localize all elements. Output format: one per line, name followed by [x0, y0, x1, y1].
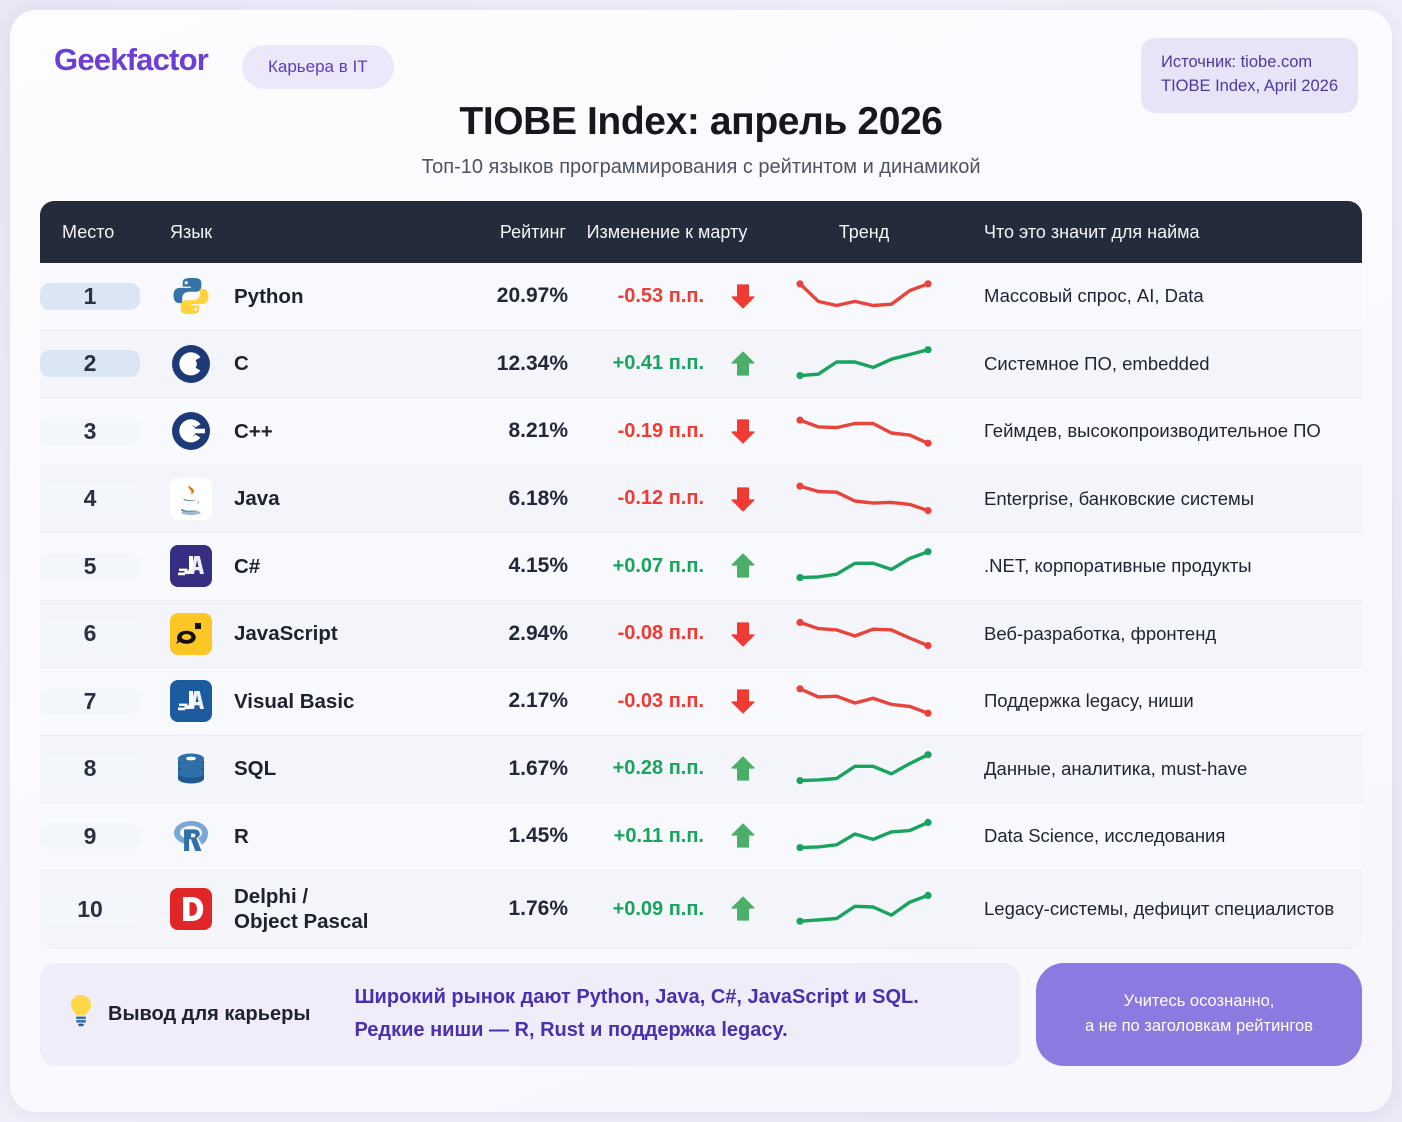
language-cell: C	[143, 343, 443, 385]
arrow-down-icon	[726, 282, 760, 310]
language-name: C#	[234, 554, 260, 579]
note-text: Enterprise, банковские системы	[984, 488, 1254, 509]
note-cell: Веб-разработка, фронтенд	[962, 623, 1362, 645]
language-name: C++	[234, 419, 273, 444]
trend-cell	[766, 540, 962, 592]
arrow-up-icon	[726, 552, 760, 580]
language-name: C	[234, 351, 249, 376]
career-badge: Карьера в IT	[242, 45, 394, 89]
rating-cell: 2.94%	[443, 622, 568, 646]
note-text: Веб-разработка, фронтенд	[984, 623, 1216, 644]
language-name: SQL	[234, 756, 276, 781]
rank-cell: 1	[40, 283, 143, 310]
rating-cell: 8.21%	[443, 419, 568, 443]
rating-value: 1.76%	[508, 897, 568, 920]
career-conclusion-panel: Вывод для карьеры Широкий рынок дают Pyt…	[40, 963, 1020, 1066]
cta-line-2: а не по заголовкам рейтингов	[1085, 1014, 1313, 1040]
rank-value: 9	[40, 823, 140, 850]
language-name: Delphi /Object Pascal	[234, 884, 368, 934]
language-cell: R	[143, 815, 443, 857]
change-value: +0.09 п.п.	[613, 898, 704, 921]
table-row: 4 Java 6.18% -0.12 п.п. Enterprise, банк…	[40, 466, 1362, 534]
note-text: Массовый спрос, AI, Data	[984, 285, 1204, 306]
language-cell: C#	[143, 545, 443, 587]
trend-cell	[766, 338, 962, 390]
language-name: Visual Basic	[234, 689, 354, 714]
note-cell: Данные, аналитика, must-have	[962, 758, 1362, 780]
rank-cell: 9	[40, 823, 143, 850]
rank-cell: 4	[40, 485, 143, 512]
source-box: Источник: tiobe.com TIOBE Index, April 2…	[1141, 38, 1358, 113]
rank-cell: 7	[40, 688, 143, 715]
trend-sparkline	[791, 473, 937, 525]
note-cell: Enterprise, банковские системы	[962, 488, 1362, 510]
rating-value: 1.45%	[508, 824, 568, 847]
brand-logo: Geekfactor	[54, 42, 208, 78]
rank-value: 3	[40, 418, 140, 445]
note-text: Данные, аналитика, must-have	[984, 758, 1247, 779]
change-value: +0.28 п.п.	[613, 757, 704, 780]
change-value: -0.12 п.п.	[618, 487, 704, 510]
rank-value: 5	[40, 553, 140, 580]
conclusion-text: Широкий рынок дают Python, Java, C#, Jav…	[354, 981, 918, 1048]
rank-cell: 6	[40, 620, 143, 647]
top-bar: Geekfactor Карьера в IT Источник: tiobe.…	[40, 36, 1362, 94]
note-text: Системное ПО, embedded	[984, 353, 1210, 374]
change-value: -0.53 п.п.	[618, 285, 704, 308]
language-name: R	[234, 824, 249, 849]
arrow-up-icon	[726, 755, 760, 783]
table-row: 10 Delphi /Object Pascal 1.76% +0.09 п.п…	[40, 871, 1362, 949]
delphi-logo-icon	[170, 888, 212, 930]
trend-cell	[766, 743, 962, 795]
note-cell: Legacy-системы, дефицит специалистов	[962, 898, 1362, 920]
rating-value: 12.34%	[497, 352, 568, 375]
note-cell: Системное ПО, embedded	[962, 353, 1362, 375]
rank-value: 1	[40, 283, 140, 310]
arrow-down-icon	[726, 485, 760, 513]
trend-sparkline	[791, 270, 937, 322]
column-header-rating: Рейтинг	[443, 222, 568, 243]
language-cell: Visual Basic	[143, 680, 443, 722]
language-cell: Python	[143, 275, 443, 317]
rank-value: 10	[40, 896, 140, 923]
javascript-logo-icon	[170, 613, 212, 655]
trend-cell	[766, 608, 962, 660]
arrow-down-icon	[726, 417, 760, 445]
trend-cell	[766, 675, 962, 727]
change-value: +0.07 п.п.	[613, 555, 704, 578]
language-name: Python	[234, 284, 303, 309]
note-text: Data Science, исследования	[984, 825, 1225, 846]
visualbasic-logo-icon	[170, 680, 212, 722]
column-header-note: Что это значит для найма	[962, 222, 1362, 243]
change-cell: +0.11 п.п.	[568, 822, 766, 850]
arrow-up-icon	[726, 350, 760, 378]
rating-value: 2.94%	[508, 622, 568, 645]
arrow-up-icon	[726, 822, 760, 850]
change-cell: +0.09 п.п.	[568, 895, 766, 923]
table-row: 3 C++ 8.21% -0.19 п.п. Геймдев, высокопр…	[40, 398, 1362, 466]
rank-cell: 8	[40, 755, 143, 782]
ranking-table: Место Язык Рейтинг Изменение к марту Тре…	[40, 201, 1362, 949]
rating-cell: 1.45%	[443, 824, 568, 848]
note-cell: Поддержка legacy, ниши	[962, 690, 1362, 712]
c++-logo-icon	[170, 410, 212, 452]
rating-cell: 12.34%	[443, 352, 568, 376]
table-row: 7 Visual Basic 2.17% -0.03 п.п. Поддержк…	[40, 668, 1362, 736]
note-cell: Геймдев, высокопроизводительное ПО	[962, 420, 1362, 442]
note-cell: Data Science, исследования	[962, 825, 1362, 847]
change-value: +0.41 п.п.	[613, 352, 704, 375]
footer: Вывод для карьеры Широкий рынок дают Pyt…	[40, 963, 1362, 1066]
trend-sparkline	[791, 405, 937, 457]
change-cell: -0.03 п.п.	[568, 687, 766, 715]
column-header-change: Изменение к марту	[568, 222, 766, 243]
note-text: Геймдев, высокопроизводительное ПО	[984, 420, 1321, 441]
rank-value: 7	[40, 688, 140, 715]
r-logo-icon	[170, 815, 212, 857]
trend-cell	[766, 473, 962, 525]
table-row: 8 SQL 1.67% +0.28 п.п. Данные, аналитика…	[40, 736, 1362, 804]
cta-line-1: Учитесь осознанно,	[1124, 989, 1275, 1015]
source-line-2: TIOBE Index, April 2026	[1161, 75, 1338, 99]
rating-value: 8.21%	[508, 419, 568, 442]
trend-cell	[766, 883, 962, 935]
language-cell: Java	[143, 478, 443, 520]
conclusion-label: Вывод для карьеры	[108, 1003, 310, 1026]
change-cell: -0.53 п.п.	[568, 282, 766, 310]
note-text: .NET, корпоративные продукты	[984, 555, 1252, 576]
rating-cell: 1.76%	[443, 897, 568, 921]
language-cell: JavaScript	[143, 613, 443, 655]
c#-logo-icon	[170, 545, 212, 587]
change-cell: +0.41 п.п.	[568, 350, 766, 378]
arrow-down-icon	[726, 687, 760, 715]
rating-cell: 4.15%	[443, 554, 568, 578]
change-value: -0.03 п.п.	[618, 690, 704, 713]
trend-sparkline	[791, 540, 937, 592]
infographic-card: Geekfactor Карьера в IT Источник: tiobe.…	[10, 10, 1392, 1112]
trend-cell	[766, 405, 962, 457]
rating-value: 6.18%	[508, 487, 568, 510]
language-cell: Delphi /Object Pascal	[143, 884, 443, 934]
arrow-down-icon	[726, 620, 760, 648]
note-text: Поддержка legacy, ниши	[984, 690, 1194, 711]
table-row: 5 C# 4.15% +0.07 п.п. .NET, корпоративны…	[40, 533, 1362, 601]
trend-sparkline	[791, 608, 937, 660]
trend-sparkline	[791, 675, 937, 727]
trend-cell	[766, 810, 962, 862]
trend-sparkline	[791, 810, 937, 862]
rating-cell: 20.97%	[443, 284, 568, 308]
lightbulb-icon	[66, 993, 96, 1035]
table-body: 1 Python 20.97% -0.53 п.п. Массовый спро…	[40, 263, 1362, 949]
table-row: 1 Python 20.97% -0.53 п.п. Массовый спро…	[40, 263, 1362, 331]
trend-sparkline	[791, 743, 937, 795]
rank-value: 2	[40, 350, 140, 377]
note-text: Legacy-системы, дефицит специалистов	[984, 898, 1334, 919]
column-header-trend: Тренд	[766, 222, 962, 243]
conclusion-line-1: Широкий рынок дают Python, Java, C#, Jav…	[354, 981, 918, 1015]
rank-value: 8	[40, 755, 140, 782]
arrow-up-icon	[726, 895, 760, 923]
rating-cell: 1.67%	[443, 757, 568, 781]
rank-cell: 2	[40, 350, 143, 377]
column-header-rank: Место	[40, 222, 143, 243]
source-line-1: Источник: tiobe.com	[1161, 51, 1338, 75]
trend-sparkline	[791, 883, 937, 935]
table-row: 6 JavaScript 2.94% -0.08 п.п. Веб-разраб…	[40, 601, 1362, 669]
conclusion-line-2: Редкие ниши — R, Rust и поддержка legacy…	[354, 1014, 918, 1048]
trend-sparkline	[791, 338, 937, 390]
page-subtitle: Топ-10 языков программирования с рейтинт…	[40, 156, 1362, 179]
rating-value: 4.15%	[508, 554, 568, 577]
python-logo-icon	[170, 275, 212, 317]
rating-cell: 6.18%	[443, 487, 568, 511]
note-cell: .NET, корпоративные продукты	[962, 555, 1362, 577]
table-row: 9 R 1.45% +0.11 п.п. Data Science, иссле…	[40, 803, 1362, 871]
table-header-row: Место Язык Рейтинг Изменение к марту Тре…	[40, 201, 1362, 263]
change-value: +0.11 п.п.	[614, 825, 704, 848]
rank-cell: 3	[40, 418, 143, 445]
change-cell: +0.07 п.п.	[568, 552, 766, 580]
change-cell: +0.28 п.п.	[568, 755, 766, 783]
change-value: -0.19 п.п.	[618, 420, 704, 443]
rating-value: 20.97%	[497, 284, 568, 307]
language-cell: C++	[143, 410, 443, 452]
change-cell: -0.12 п.п.	[568, 485, 766, 513]
column-header-language: Язык	[143, 222, 443, 243]
language-name: JavaScript	[234, 621, 338, 646]
rating-cell: 2.17%	[443, 689, 568, 713]
rating-value: 1.67%	[508, 757, 568, 780]
rank-cell: 10	[40, 896, 143, 923]
change-cell: -0.19 п.п.	[568, 417, 766, 445]
note-cell: Массовый спрос, AI, Data	[962, 285, 1362, 307]
rank-cell: 5	[40, 553, 143, 580]
sql-logo-icon	[170, 748, 212, 790]
change-value: -0.08 п.п.	[618, 622, 704, 645]
trend-cell	[766, 270, 962, 322]
c-logo-icon	[170, 343, 212, 385]
rank-value: 4	[40, 485, 140, 512]
rating-value: 2.17%	[508, 689, 568, 712]
language-name: Java	[234, 486, 280, 511]
change-cell: -0.08 п.п.	[568, 620, 766, 648]
language-cell: SQL	[143, 748, 443, 790]
table-row: 2 C 12.34% +0.41 п.п. Системное ПО, embe…	[40, 331, 1362, 399]
java-logo-icon	[170, 478, 212, 520]
cta-button[interactable]: Учитесь осознанно, а не по заголовкам ре…	[1036, 963, 1362, 1066]
rank-value: 6	[40, 620, 140, 647]
